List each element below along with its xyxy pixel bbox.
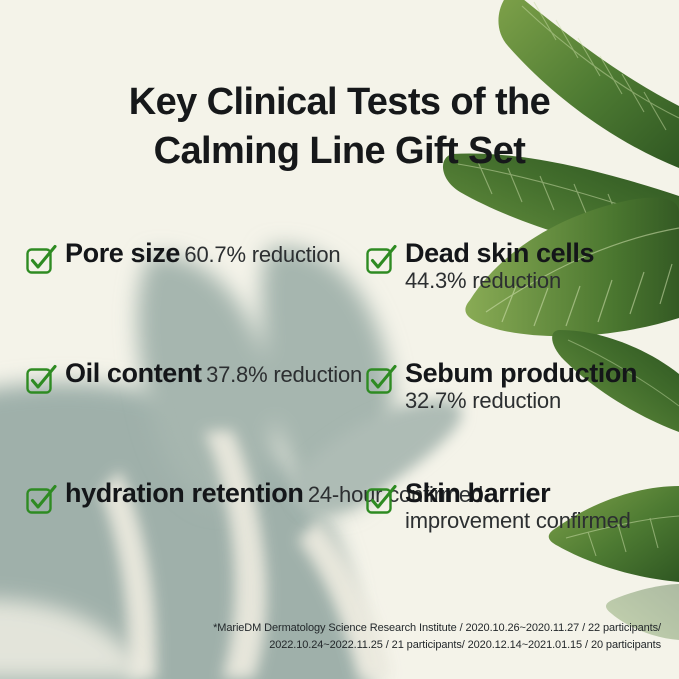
check-box-icon <box>25 485 55 515</box>
check-box-icon <box>365 245 395 275</box>
page-title: Key Clinical Tests of the Calming Line G… <box>0 78 679 175</box>
result-text: Oil content 37.8% reduction <box>65 358 362 388</box>
result-detail: 60.7% reduction <box>184 242 340 267</box>
result-item-pore-size: Pore size 60.7% reduction <box>25 238 340 275</box>
result-title: Pore size <box>65 238 180 268</box>
result-detail: improvement confirmed <box>405 508 631 533</box>
result-text: Pore size 60.7% reduction <box>65 238 340 268</box>
result-title: Sebum production <box>405 358 637 388</box>
check-box-icon <box>25 245 55 275</box>
check-box-icon <box>365 365 395 395</box>
promo-poster: Key Clinical Tests of the Calming Line G… <box>0 0 679 679</box>
result-detail: 44.3% reduction <box>405 268 561 293</box>
results-grid: Pore size 60.7% reduction Dead skin cell… <box>0 238 679 598</box>
footnote-line-1: *MarieDM Dermatology Science Research In… <box>0 620 661 637</box>
result-item-dead-skin-cells: Dead skin cells 44.3% reduction <box>365 238 679 295</box>
result-detail: 32.7% reduction <box>405 388 561 413</box>
result-title: Oil content <box>65 358 202 388</box>
result-item-oil-content: Oil content 37.8% reduction <box>25 358 362 395</box>
result-item-skin-barrier: Skin barrier improvement confirmed <box>365 478 679 535</box>
results-row: Pore size 60.7% reduction Dead skin cell… <box>0 238 679 358</box>
result-text: Sebum production 32.7% reduction <box>405 358 679 415</box>
result-text: Skin barrier improvement confirmed <box>405 478 679 535</box>
result-detail: 37.8% reduction <box>206 362 362 387</box>
results-row: hydration retention 24-hour confirmed Sk… <box>0 478 679 598</box>
check-box-icon <box>365 485 395 515</box>
result-text: Dead skin cells 44.3% reduction <box>405 238 679 295</box>
footnote: *MarieDM Dermatology Science Research In… <box>0 620 679 653</box>
result-title: hydration retention <box>65 478 303 508</box>
result-title: Skin barrier <box>405 478 550 508</box>
results-row: Oil content 37.8% reduction Sebum produc… <box>0 358 679 478</box>
check-box-icon <box>25 365 55 395</box>
footnote-line-2: 2022.10.24~2022.11.25 / 21 participants/… <box>0 637 661 654</box>
result-title: Dead skin cells <box>405 238 594 268</box>
result-item-sebum-production: Sebum production 32.7% reduction <box>365 358 679 415</box>
poster-content: Key Clinical Tests of the Calming Line G… <box>0 0 679 679</box>
